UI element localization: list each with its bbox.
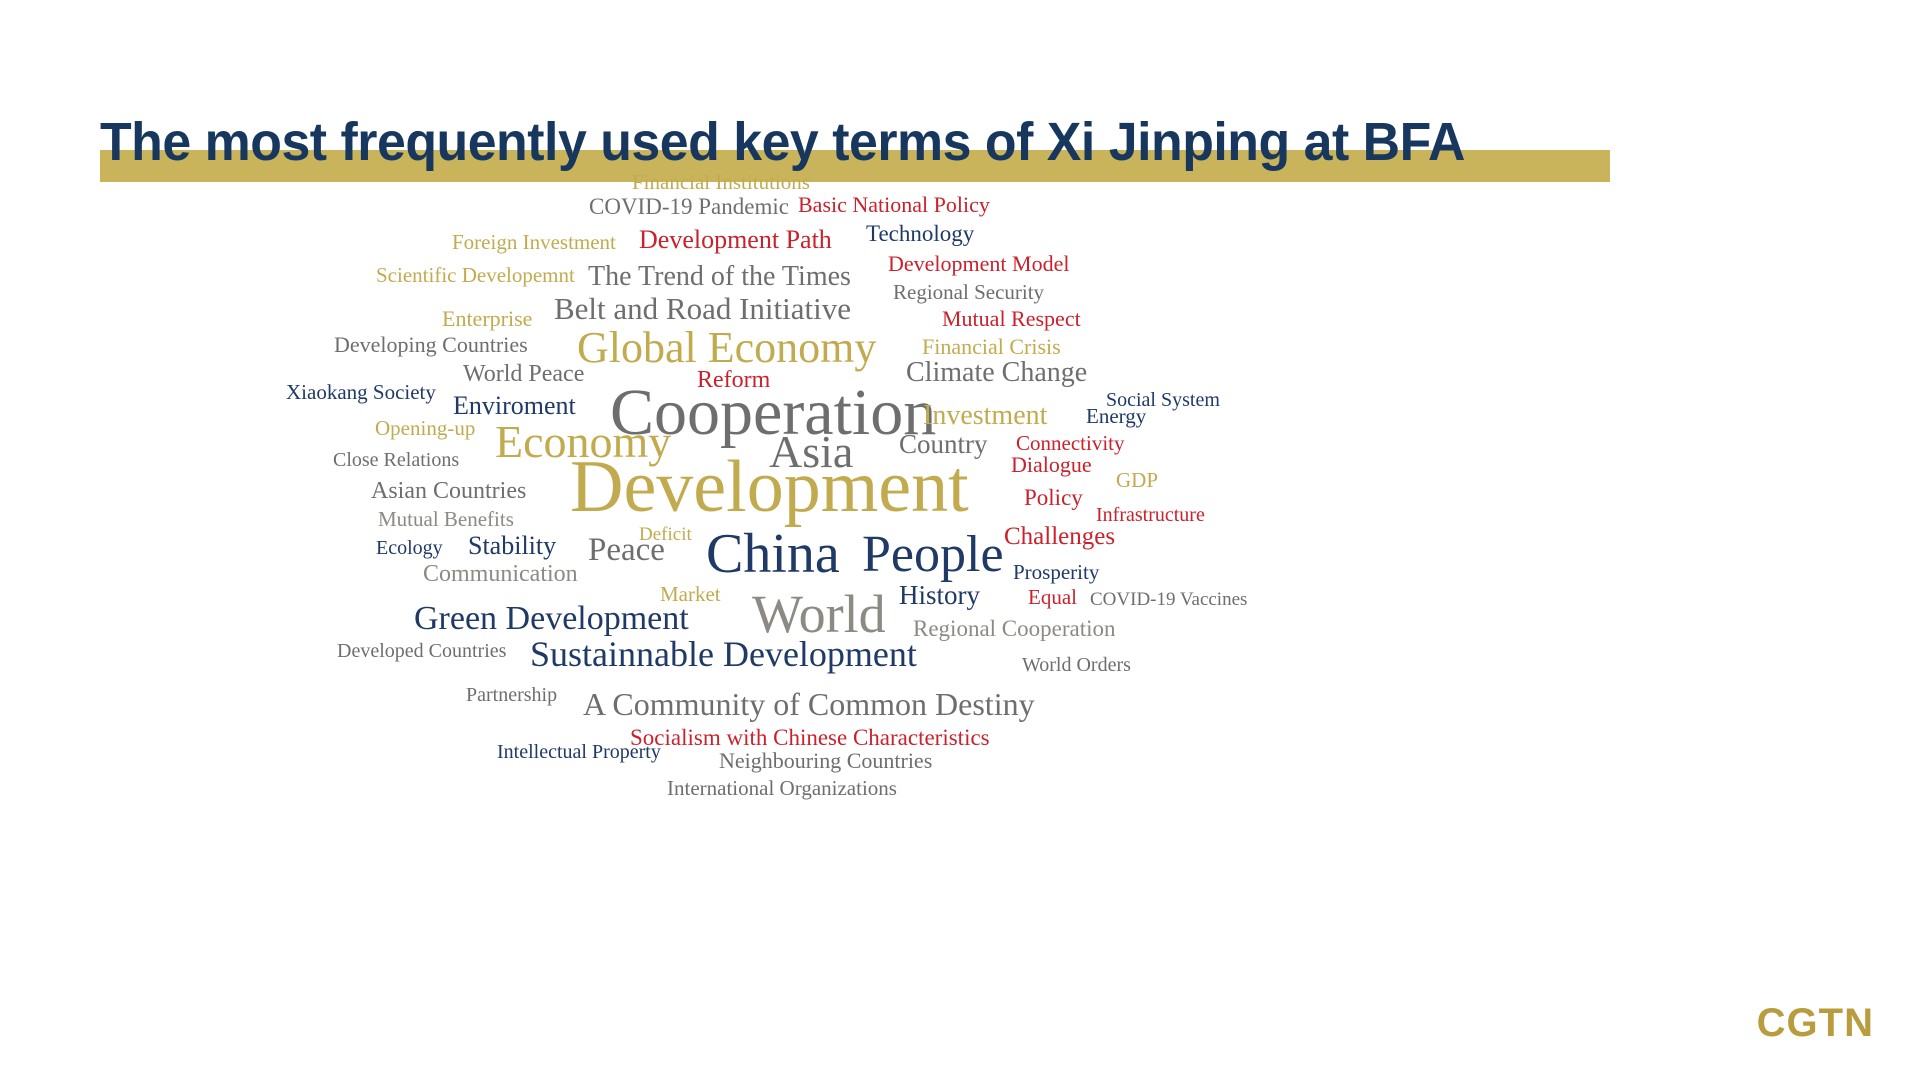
cloud-word: China bbox=[706, 526, 840, 582]
cloud-word: Intellectual Property bbox=[497, 742, 661, 762]
cloud-word: Reform bbox=[697, 368, 770, 392]
cloud-word: Technology bbox=[866, 222, 974, 245]
cloud-word: Sustainnable Development bbox=[530, 636, 917, 672]
cloud-word: The Trend of the Times bbox=[588, 263, 851, 291]
cloud-word: Foreign Investment bbox=[452, 232, 616, 253]
cloud-word: A Community of Common Destiny bbox=[583, 688, 1035, 720]
cloud-word: International Organizations bbox=[667, 778, 897, 799]
title-block: The most frequently used key terms of Xi… bbox=[0, 52, 1920, 144]
cloud-word: Stability bbox=[468, 533, 556, 559]
cloud-word: Asian Countries bbox=[371, 479, 526, 503]
cloud-word: Basic National Policy bbox=[798, 194, 990, 216]
cloud-word: Deficit bbox=[639, 525, 692, 544]
cloud-word: Developed Countries bbox=[337, 641, 506, 661]
cloud-word: Investment bbox=[923, 402, 1047, 430]
cloud-word: Scientific Developemnt bbox=[376, 265, 575, 286]
cloud-word: Financial Crisis bbox=[922, 336, 1061, 358]
cloud-word: Market bbox=[660, 584, 721, 605]
cloud-word: Developing Countries bbox=[334, 334, 528, 356]
cloud-word: Global Economy bbox=[577, 326, 876, 370]
cloud-word: Xiaokang Society bbox=[286, 382, 436, 403]
word-cloud-page: The most frequently used key terms of Xi… bbox=[0, 0, 1920, 1080]
cloud-word: Regional Cooperation bbox=[913, 617, 1116, 640]
cloud-word: Prosperity bbox=[1013, 562, 1099, 583]
cloud-word: Partnership bbox=[466, 685, 557, 705]
cloud-word: Policy bbox=[1024, 486, 1083, 509]
cloud-word: People bbox=[862, 529, 1004, 581]
cloud-word: COVID-19 Pandemic bbox=[589, 195, 789, 218]
cloud-word: Close Relations bbox=[333, 450, 459, 470]
cloud-word: World Peace bbox=[463, 362, 584, 386]
cloud-word: Connectivity bbox=[1016, 433, 1125, 454]
cloud-word: Neighbouring Countries bbox=[719, 750, 932, 772]
cloud-word: Enterprise bbox=[442, 308, 532, 330]
cloud-word: World bbox=[752, 587, 886, 641]
cloud-word: Economy bbox=[495, 419, 671, 465]
cloud-word: Green Development bbox=[414, 602, 689, 636]
cloud-word: Asia bbox=[769, 429, 853, 475]
cloud-word: Socialism with Chinese Characteristics bbox=[630, 726, 990, 749]
cloud-word: GDP bbox=[1116, 470, 1158, 491]
cloud-word: Regional Security bbox=[893, 282, 1044, 303]
cloud-word: Dialogue bbox=[1011, 454, 1092, 476]
cloud-word: Mutual Benefits bbox=[378, 509, 514, 530]
word-cloud: DevelopmentCooperationChinaWorldPeopleGl… bbox=[0, 150, 1920, 990]
cloud-word: Ecology bbox=[376, 538, 443, 558]
cloud-word: World Orders bbox=[1022, 655, 1131, 675]
cloud-word: COVID-19 Vaccines bbox=[1090, 590, 1247, 609]
cloud-word: History bbox=[899, 582, 980, 609]
cloud-word: Climate Change bbox=[906, 359, 1087, 387]
cloud-word: Country bbox=[899, 431, 988, 458]
cloud-word: Belt and Road Initiative bbox=[554, 293, 851, 324]
cloud-word: Development Path bbox=[639, 227, 832, 253]
cloud-word: Communication bbox=[423, 562, 578, 586]
cloud-word: Development Model bbox=[888, 253, 1069, 275]
cloud-word: Mutual Respect bbox=[942, 308, 1081, 330]
cloud-word: Financial Institutions bbox=[632, 172, 810, 193]
cloud-word: Infrastructure bbox=[1096, 505, 1205, 525]
cloud-word: Challenges bbox=[1004, 524, 1115, 549]
cloud-word: Equal bbox=[1028, 587, 1077, 608]
cloud-word: Energy bbox=[1086, 406, 1146, 427]
cloud-word: Opening-up bbox=[375, 418, 475, 439]
cgtn-logo: CGTN bbox=[1757, 1001, 1874, 1046]
